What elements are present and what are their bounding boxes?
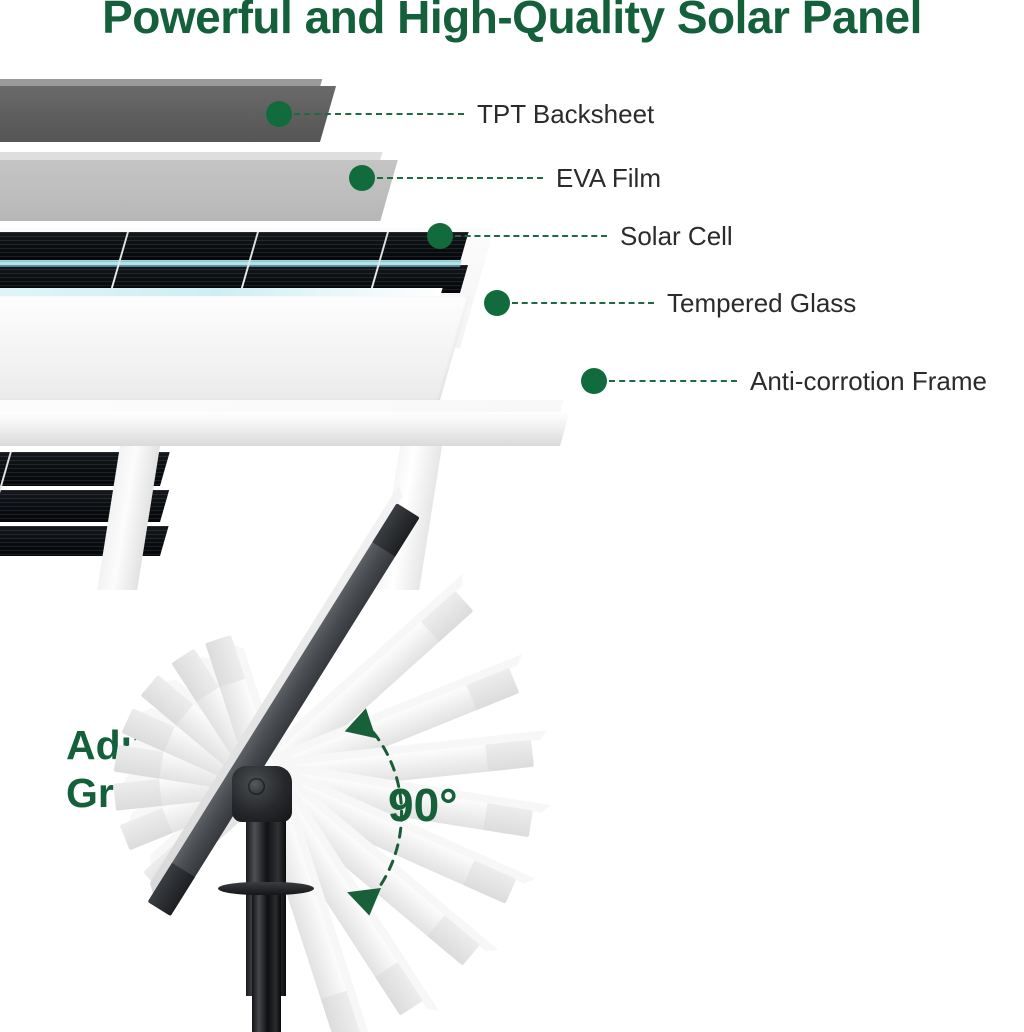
callout-dash-line [377, 177, 543, 179]
angle-label: 90° [388, 778, 458, 832]
ghost-bar-cap [113, 779, 162, 811]
arrow-head-down-icon [347, 884, 387, 919]
layer-tempered-glass [0, 296, 440, 400]
callout-tempered-glass: Tempered Glass [484, 292, 856, 314]
callout-label-solar-cell: Solar Cell [620, 221, 733, 252]
screw-icon [248, 778, 265, 795]
layer-anti-corrosion-frame [0, 412, 560, 446]
callout-dot-icon [581, 368, 607, 394]
callout-dot-icon [349, 165, 375, 191]
callout-dot-icon [427, 223, 453, 249]
callout-eva-film: EVA Film [349, 167, 661, 189]
callout-label-eva-film: EVA Film [556, 163, 661, 194]
exploded-panel-diagram: TPT Backsheet EVA Film Solar Cell Temper… [0, 60, 1024, 530]
eva-face [0, 160, 398, 222]
page-title: Powerful and High-Quality Solar Panel [0, 0, 1024, 44]
callout-dash-line [512, 302, 654, 304]
callout-anti-corrosion-frame: Anti-corrotion Frame [581, 370, 987, 392]
callout-dash-line [294, 113, 464, 115]
glass-tint-streak [0, 260, 462, 267]
callout-dot-icon [266, 101, 292, 127]
callout-dash-line [455, 235, 607, 237]
arrow-head-up-icon [345, 704, 383, 740]
spike-lower-pole [252, 890, 281, 1032]
callout-label-anti-corrosion-frame: Anti-corrotion Frame [750, 366, 987, 397]
layer-eva-film [0, 160, 380, 222]
glass-face [0, 296, 470, 400]
callout-label-tempered-glass: Tempered Glass [667, 288, 856, 319]
callout-tpt-backsheet: TPT Backsheet [266, 103, 654, 125]
callout-solar-cell: Solar Cell [427, 225, 733, 247]
callout-label-tpt-backsheet: TPT Backsheet [477, 99, 654, 130]
callout-dash-line [609, 380, 737, 382]
pivot-joint[interactable] [232, 766, 292, 822]
frame-face [0, 412, 570, 446]
infographic-root: Powerful and High-Quality Solar Panel [0, 0, 1024, 1032]
cell-band-row-1 [0, 232, 469, 262]
adjustable-ground-spike-diagram: Adjustable Ground Spike [0, 500, 1024, 1032]
callout-dot-icon [484, 290, 510, 316]
